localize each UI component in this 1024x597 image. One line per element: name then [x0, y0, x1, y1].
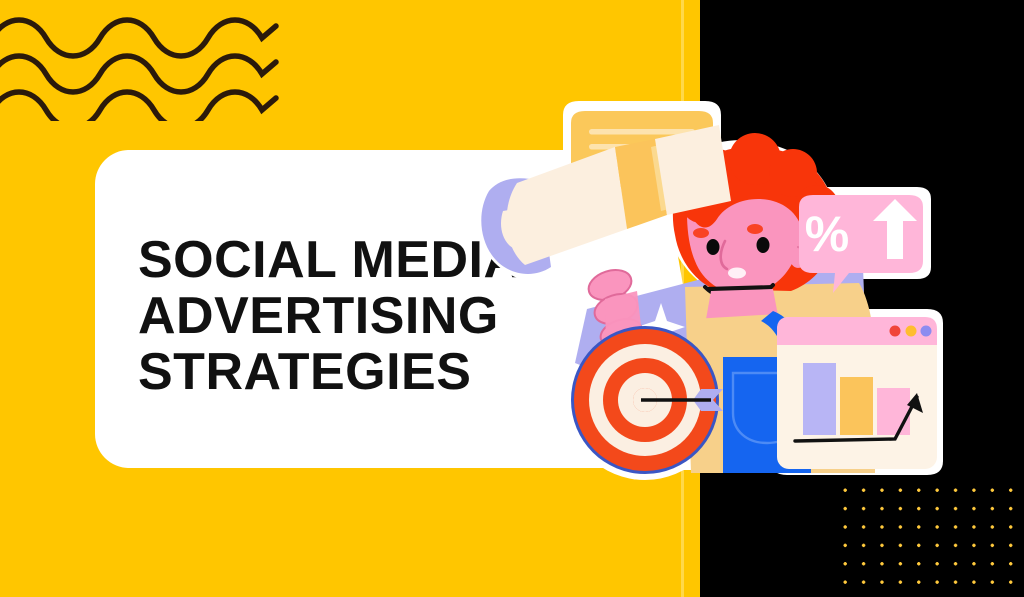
chart-bar-1 — [803, 363, 836, 435]
hero-illustration: % — [455, 95, 975, 495]
cheek-highlight — [728, 268, 746, 279]
blush-right — [747, 224, 763, 234]
chart-bar-3 — [877, 388, 910, 435]
browser-dot-purple — [921, 326, 932, 337]
browser-chart-window — [777, 317, 937, 469]
bubble-line-1 — [589, 129, 695, 135]
percent-symbol: % — [805, 206, 849, 262]
browser-dot-yellow — [906, 326, 917, 337]
eye-right — [757, 237, 770, 253]
blush-left — [693, 228, 709, 238]
wave-decoration — [0, 6, 292, 121]
chart-bar-2 — [840, 377, 873, 435]
browser-dot-red — [890, 326, 901, 337]
eye-left — [707, 239, 720, 255]
dot-grid-decoration — [833, 478, 1024, 597]
forearm — [655, 125, 731, 215]
poster-canvas: SOCIAL MEDIA ADVERTISING STRATEGIES — [0, 0, 1024, 597]
